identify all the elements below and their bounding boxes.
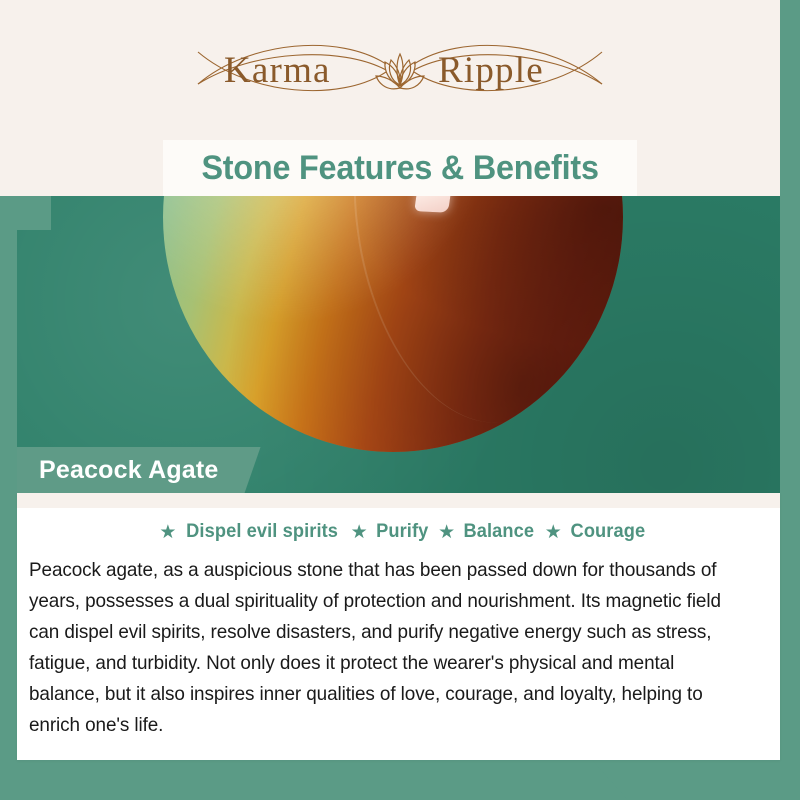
content-card: ★ Dispel evil spirits ★ Purify ★ Balance…: [17, 493, 780, 760]
brand-name-left: Karma: [224, 50, 331, 91]
feature-label: Courage: [570, 521, 645, 543]
star-icon: ★: [438, 523, 455, 542]
stone-name-label: Peacock Agate: [39, 456, 219, 485]
star-icon: ★: [545, 523, 562, 542]
feature-item: ★ Purify: [342, 521, 430, 543]
feature-list: ★ Dispel evil spirits ★ Purify ★ Balance…: [17, 521, 780, 543]
star-icon: ★: [351, 523, 368, 542]
feature-label: Dispel evil spirits: [187, 521, 339, 543]
feature-label: Purify: [376, 521, 428, 543]
brand-logo: Karma Ripple: [0, 24, 800, 110]
feature-item: ★ Balance: [429, 521, 536, 543]
right-frame-edge: [780, 0, 800, 800]
feature-label: Balance: [464, 521, 535, 543]
stone-name-tag: Peacock Agate: [17, 447, 261, 493]
page-title-banner: Stone Features & Benefits: [163, 140, 637, 196]
page-title: Stone Features & Benefits: [201, 149, 598, 188]
stone-info-poster: Karma Ripple Stone Features & Benefits P…: [0, 0, 800, 800]
lotus-flower-icon: [376, 54, 424, 89]
stone-description: Peacock agate, as a auspicious stone tha…: [29, 555, 747, 741]
card-top-strip: [17, 493, 780, 508]
star-icon: ★: [159, 523, 176, 542]
brand-logo-svg: Karma Ripple: [190, 24, 610, 110]
brand-name-right: Ripple: [438, 50, 544, 91]
feature-item: ★ Courage: [536, 521, 647, 543]
feature-item: ★ Dispel evil spirits: [150, 521, 341, 543]
left-frame-edge: [0, 196, 17, 800]
